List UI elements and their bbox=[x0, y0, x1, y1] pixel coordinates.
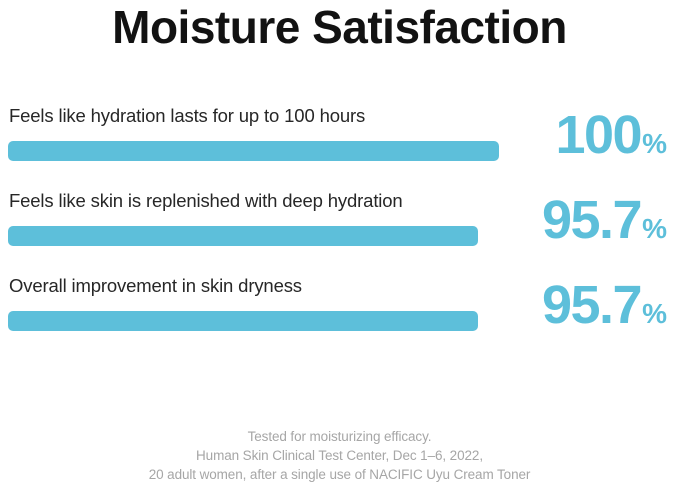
bar-value-percent-sign: % bbox=[642, 115, 667, 173]
bar-value: 95.7 % bbox=[542, 276, 667, 343]
bar-value-number: 95.7 bbox=[542, 191, 641, 249]
footnote: Tested for moisturizing efficacy. Human … bbox=[0, 427, 679, 484]
infographic-root: Moisture Satisfaction Feels like hydrati… bbox=[0, 0, 679, 495]
bar-value-percent-sign: % bbox=[642, 285, 667, 343]
footnote-line-2: Human Skin Clinical Test Center, Dec 1–6… bbox=[0, 446, 679, 465]
page-title: Moisture Satisfaction bbox=[0, 0, 679, 54]
bar-fill bbox=[8, 311, 478, 331]
bar-label: Feels like hydration lasts for up to 100… bbox=[8, 104, 508, 128]
bar-chart: Feels like hydration lasts for up to 100… bbox=[0, 104, 679, 359]
bar-row-content: Feels like hydration lasts for up to 100… bbox=[8, 104, 508, 161]
bar-fill bbox=[8, 141, 499, 161]
bar-value-number: 100 bbox=[555, 106, 641, 164]
bar-value: 100 % bbox=[555, 106, 667, 173]
bar-label: Feels like skin is replenished with deep… bbox=[8, 189, 508, 213]
bar-row: Feels like hydration lasts for up to 100… bbox=[0, 104, 679, 189]
bar-row-content: Overall improvement in skin dryness bbox=[8, 274, 508, 331]
bar-row-content: Feels like skin is replenished with deep… bbox=[8, 189, 508, 246]
bar-row: Overall improvement in skin dryness 95.7… bbox=[0, 274, 679, 359]
bar-value-number: 95.7 bbox=[542, 276, 641, 334]
bar-fill bbox=[8, 226, 478, 246]
bar-track bbox=[8, 311, 499, 331]
bar-value: 95.7 % bbox=[542, 191, 667, 258]
bar-track bbox=[8, 226, 499, 246]
bar-track bbox=[8, 141, 499, 161]
footnote-line-3: 20 adult women, after a single use of NA… bbox=[0, 465, 679, 484]
footnote-line-1: Tested for moisturizing efficacy. bbox=[0, 427, 679, 446]
bar-row: Feels like skin is replenished with deep… bbox=[0, 189, 679, 274]
bar-value-percent-sign: % bbox=[642, 200, 667, 258]
bar-label: Overall improvement in skin dryness bbox=[8, 274, 508, 298]
